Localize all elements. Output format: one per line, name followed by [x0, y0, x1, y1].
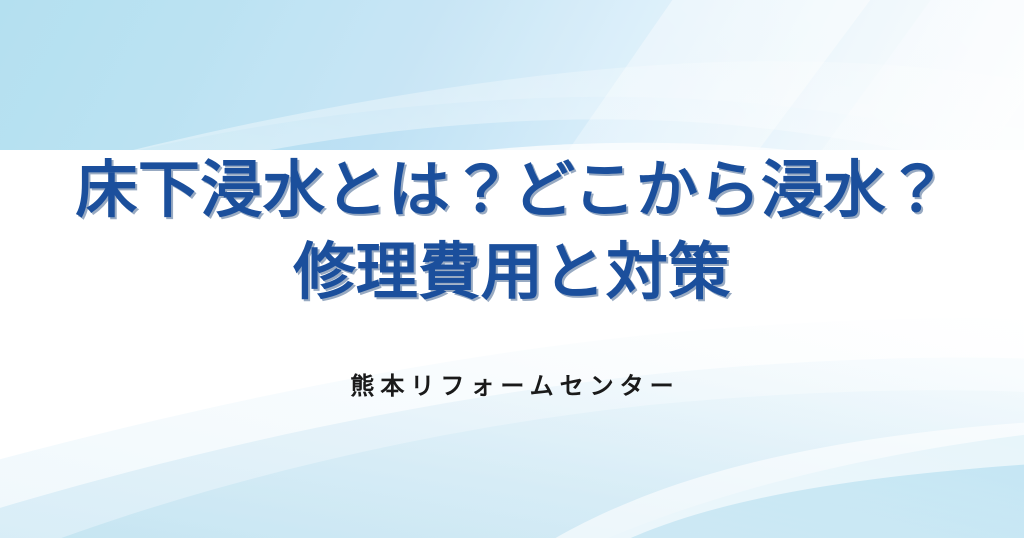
page-title: 床下浸水とは？どこから浸水？ 修理費用と対策 [0, 150, 1024, 314]
eyecatch-content: 床下浸水とは？どこから浸水？ 修理費用と対策 熊本リフォームセンター [0, 0, 1024, 538]
brand-name: 熊本リフォームセンター [0, 366, 1024, 401]
eyecatch-banner: 床下浸水とは？どこから浸水？ 修理費用と対策 熊本リフォームセンター [0, 0, 1024, 538]
page-title-line-2: 修理費用と対策 [0, 232, 1024, 314]
page-title-line-1: 床下浸水とは？どこから浸水？ [0, 150, 1024, 232]
